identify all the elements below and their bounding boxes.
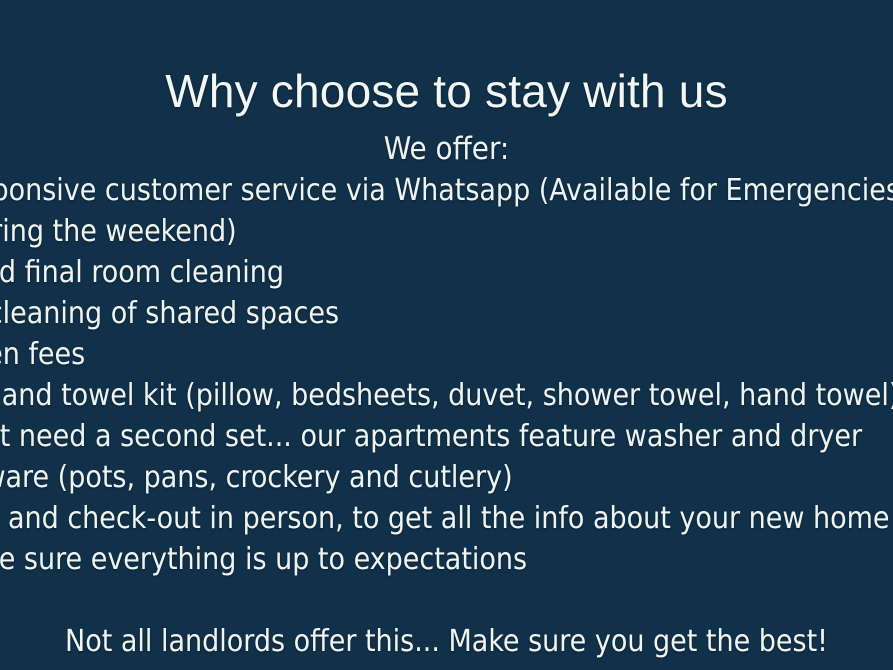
offer-line: Bedding and towel kit (pillow, bedsheets… (0, 375, 893, 416)
offer-line: even during the weekend) (0, 211, 893, 252)
offer-line: Very responsive customer service via Wha… (0, 170, 893, 211)
offer-line: and make sure everything is up to expect… (0, 539, 893, 580)
offer-line: You won't need a second set... our apart… (0, 416, 893, 457)
offer-line: Kitchenware (pots, pans, crockery and cu… (0, 457, 893, 498)
offer-line: Check-in and check-out in person, to get… (0, 498, 893, 539)
offer-line: Weekly cleaning of shared spaces (0, 293, 893, 334)
closing-call-to-action: Not all landlords offer this... Make sur… (0, 622, 893, 662)
offer-line: No hidden fees (0, 334, 893, 375)
slide-subtitle: We offer: (0, 130, 893, 168)
slide-title: Why choose to stay with us (0, 63, 893, 119)
slide-canvas: Why choose to stay with us We offer: Ver… (0, 0, 893, 670)
offers-list: Very responsive customer service via Wha… (0, 170, 893, 580)
offer-line: Initial and final room cleaning (0, 252, 893, 293)
